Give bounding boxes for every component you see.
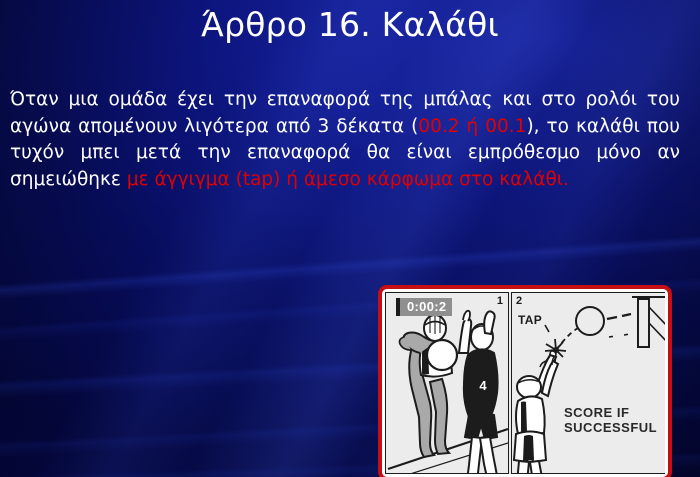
slide-canvas: Άρθρο 16. Καλάθι Όταν μια ομάδα έχει την… [0, 0, 700, 477]
illustration-panel-2: 2 TAP SCORE IF SUCCESSFUL [511, 292, 665, 474]
basketball-illustration: 1 0:00:2 [378, 285, 672, 477]
body-highlight-tap: με άγγιγμα (tap) ή άμεσο κάρφωμα στο καλ… [127, 169, 569, 190]
svg-text:4: 4 [479, 378, 487, 393]
panel-2-number: 2 [516, 295, 522, 307]
panel-1-number: 1 [497, 295, 503, 307]
panel-1-drawing: 4 [386, 293, 509, 474]
page-title: Άρθρο 16. Καλάθι [0, 3, 700, 47]
illustration-inner-frame: 1 0:00:2 [385, 292, 665, 474]
body-highlight-time: 00.2 ή 00.1 [418, 116, 526, 137]
score-if-successful-label: SCORE IF SUCCESSFUL [564, 405, 657, 435]
score-label-line-1: SCORE IF [564, 405, 657, 420]
score-label-line-2: SUCCESSFUL [564, 420, 657, 435]
body-paragraph: Όταν μια ομάδα έχει την επαναφορά της μπ… [10, 87, 680, 193]
illustration-panel-1: 1 0:00:2 [385, 292, 509, 474]
game-clock-display: 0:00:2 [396, 298, 452, 316]
tap-label: TAP [518, 313, 542, 327]
